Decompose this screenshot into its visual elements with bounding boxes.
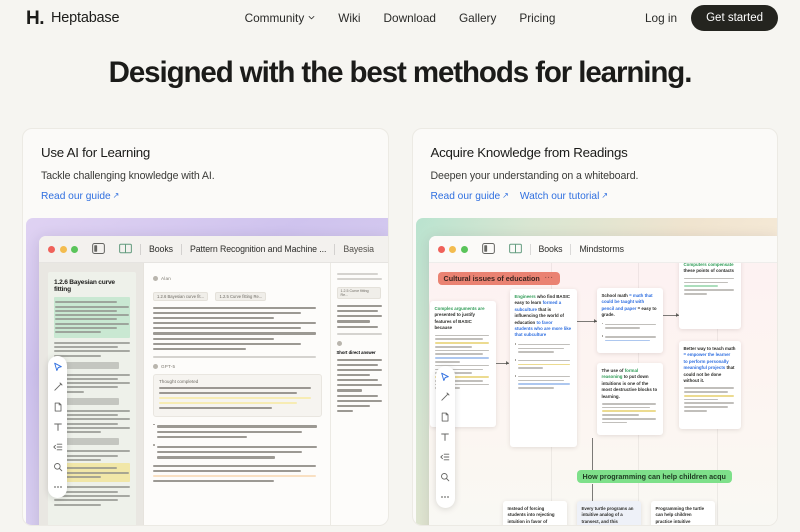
nav-link-community[interactable]: Community	[245, 11, 316, 25]
answer-heading: Short direct answer	[337, 350, 384, 356]
nav-link-community-label: Community	[245, 11, 305, 25]
assistant-name: GPT-5	[161, 364, 175, 369]
divider	[334, 244, 335, 255]
pdf-equation	[65, 362, 120, 369]
close-icon[interactable]	[48, 246, 55, 253]
card-subtitle: Deepen your understanding on a whiteboar…	[431, 170, 760, 182]
cursor-icon[interactable]	[53, 362, 63, 372]
list-item	[515, 342, 572, 355]
minimize-icon[interactable]	[60, 246, 67, 253]
note-title: Instead of forcing students into rejecti…	[508, 506, 562, 526]
note-title: The use of formal reasoning to put down …	[602, 368, 658, 400]
arrow-head-icon	[506, 361, 509, 365]
note-card[interactable]: Engineers who find BASIC easy to learn f…	[510, 289, 577, 447]
note-card[interactable]: Better way to teach math = empower the l…	[679, 341, 741, 429]
divider	[181, 244, 182, 255]
user-message-body	[153, 307, 322, 350]
outline-icon[interactable]	[440, 452, 450, 462]
close-icon[interactable]	[438, 246, 445, 253]
context-chip[interactable]: 1.2.6 Bayesian curve fit...	[153, 292, 208, 301]
message-header-assistant	[337, 341, 384, 346]
more-icon[interactable]	[53, 482, 63, 492]
sidebar-toggle-icon[interactable]	[92, 243, 105, 255]
divider	[570, 244, 571, 255]
context-chip[interactable]: 1.2.5 Curve fitting Re...	[337, 287, 381, 299]
page-title: Designed with the best methods for learn…	[0, 56, 800, 90]
tool-rail[interactable]	[48, 356, 67, 498]
thought-label: Thought completed	[159, 379, 316, 384]
avatar	[153, 276, 158, 281]
traffic-lights[interactable]	[438, 246, 468, 253]
text-icon[interactable]	[53, 422, 63, 432]
search-icon[interactable]	[53, 462, 63, 472]
whiteboard-canvas[interactable]: Cultural issues of education ··· Complex…	[429, 263, 778, 526]
note-title: Engineers who find BASIC easy to learn f…	[515, 294, 572, 339]
sidebar-toggle-icon[interactable]	[482, 243, 495, 255]
outline-icon[interactable]	[53, 442, 63, 452]
note-card[interactable]: Computers compensate these points of con…	[679, 263, 741, 329]
screenshot-ai-reader: Books Pattern Recognition and Machine ..…	[26, 218, 388, 526]
card-links: Read our guide ↗ Watch our tutorial ↗	[431, 191, 760, 202]
nav-link-download[interactable]: Download	[384, 11, 436, 25]
avatar	[337, 341, 342, 346]
note-title: Complex arguments are presented to justi…	[435, 306, 491, 332]
card-title: Acquire Knowledge from Readings	[431, 145, 760, 160]
section-tag-cultural-issues[interactable]: Cultural issues of education ···	[438, 272, 560, 285]
note-title: Computers compensate these points of con…	[684, 263, 736, 275]
list-item	[153, 422, 322, 440]
tab-mindstorms[interactable]: Mindstorms	[579, 244, 623, 254]
tab-books[interactable]: Books	[539, 244, 563, 254]
note-icon[interactable]	[53, 402, 63, 412]
app-window-whiteboard: Books Mindstorms Cultural issues of educ…	[429, 236, 778, 526]
cursor-icon[interactable]	[440, 372, 450, 382]
feature-card-whiteboard: Acquire Knowledge from Readings Deepen y…	[412, 128, 779, 526]
get-started-button[interactable]: Get started	[691, 5, 778, 31]
tool-rail[interactable]	[436, 366, 455, 508]
top-navigation-bar: H. Heptabase Community Wiki Download Gal…	[0, 0, 800, 36]
read-our-guide-link[interactable]: Read our guide ↗	[41, 191, 119, 202]
nav-link-wiki[interactable]: Wiki	[338, 11, 360, 25]
screenshot-whiteboard: Books Mindstorms Cultural issues of educ…	[416, 218, 778, 526]
tab-bayesian[interactable]: Bayesia	[343, 244, 374, 254]
more-icon[interactable]: ···	[545, 275, 554, 282]
pdf-equation	[65, 438, 120, 445]
card-header: Acquire Knowledge from Readings Deepen y…	[413, 145, 778, 202]
message-header-assistant: GPT-5	[153, 364, 322, 369]
note-card[interactable]: Instead of forcing students into rejecti…	[503, 501, 567, 526]
login-link[interactable]: Log in	[645, 11, 677, 25]
pdf-highlight-green[interactable]	[54, 297, 130, 338]
list-item	[515, 374, 572, 391]
traffic-lights[interactable]	[48, 246, 78, 253]
read-our-guide-label: Read our guide	[431, 191, 501, 202]
arrow-head-icon	[676, 313, 679, 317]
ai-chat-pane-secondary[interactable]: 1.2.5 Curve fitting Re... Short direct a…	[330, 263, 388, 526]
minimize-icon[interactable]	[449, 246, 456, 253]
pdf-section-heading: 1.2.6 Bayesian curve fitting	[54, 279, 130, 293]
read-our-guide-label: Read our guide	[41, 191, 111, 202]
external-link-icon: ↗	[502, 191, 509, 200]
window-titlebar: Books Mindstorms	[429, 236, 778, 263]
book-view-icon[interactable]	[509, 243, 522, 255]
tab-pattern-recognition[interactable]: Pattern Recognition and Machine ...	[190, 244, 326, 254]
maximize-icon[interactable]	[461, 246, 468, 253]
section-tag-label: How programming can help children acqu	[583, 472, 726, 481]
section-tag-programming-children[interactable]: How programming can help children acqu	[577, 470, 732, 483]
nav-actions: Log in Get started	[645, 5, 778, 31]
window-titlebar: Books Pattern Recognition and Machine ..…	[39, 236, 388, 263]
pen-icon[interactable]	[440, 392, 450, 402]
thought-block[interactable]: Thought completed	[153, 374, 322, 417]
feature-cards: Use AI for Learning Tackle challenging k…	[0, 128, 800, 526]
brand-name: Heptabase	[51, 10, 119, 26]
section-tag-label: Cultural issues of education	[444, 274, 540, 283]
book-view-icon[interactable]	[119, 243, 132, 255]
pdf-equation	[65, 398, 120, 405]
divider	[140, 244, 141, 255]
list-item	[153, 443, 322, 461]
search-icon[interactable]	[440, 472, 450, 482]
watch-our-tutorial-link[interactable]: Watch our tutorial ↗	[520, 191, 608, 202]
note-card[interactable]: Every turtle programs an intuitive analo…	[577, 501, 641, 526]
note-title: Programming the turtle can help children…	[656, 506, 710, 526]
note-title: School math = math that could be taught …	[602, 293, 658, 319]
note-card[interactable]: The use of formal reasoning to put down …	[597, 363, 663, 435]
nav-link-gallery[interactable]: Gallery	[459, 11, 496, 25]
avatar	[153, 364, 158, 369]
context-chip[interactable]: 1.2.5 Curve fitting Re...	[215, 292, 266, 301]
note-icon[interactable]	[440, 412, 450, 422]
watch-our-tutorial-label: Watch our tutorial	[520, 191, 599, 202]
feature-card-ai-learning: Use AI for Learning Tackle challenging k…	[22, 128, 389, 526]
read-our-guide-link[interactable]: Read our guide ↗	[431, 191, 509, 202]
external-link-icon: ↗	[113, 191, 120, 200]
note-title: Better way to teach math = empower the l…	[684, 346, 736, 384]
user-name: Alan	[161, 276, 171, 281]
list-item	[602, 334, 658, 344]
heptabase-logo-icon: H.	[26, 9, 44, 28]
nav-link-pricing[interactable]: Pricing	[519, 11, 555, 25]
brand-logo[interactable]: H. Heptabase	[26, 9, 119, 28]
ai-chat-pane[interactable]: Alan 1.2.6 Bayesian curve fit... 1.2.5 C…	[143, 263, 330, 526]
card-links: Read our guide ↗	[41, 191, 370, 202]
note-card[interactable]: School math = math that could be taught …	[597, 288, 663, 353]
arrow-head-icon	[594, 319, 597, 323]
card-subtitle: Tackle challenging knowledge with AI.	[41, 170, 370, 182]
context-chips: 1.2.6 Bayesian curve fit... 1.2.5 Curve …	[153, 285, 322, 303]
assistant-message-body	[153, 422, 322, 482]
list-item	[602, 322, 658, 332]
pen-icon[interactable]	[53, 382, 63, 392]
app-window-reader: Books Pattern Recognition and Machine ..…	[39, 236, 388, 526]
maximize-icon[interactable]	[71, 246, 78, 253]
tab-books[interactable]: Books	[149, 244, 173, 254]
list-item	[515, 358, 572, 371]
divider	[530, 244, 531, 255]
card-header: Use AI for Learning Tackle challenging k…	[23, 145, 388, 202]
text-icon[interactable]	[440, 432, 450, 442]
note-title: Every turtle programs an intuitive analo…	[582, 506, 636, 526]
chevron-down-icon	[308, 14, 315, 21]
hero-section: Designed with the best methods for learn…	[0, 36, 800, 90]
connector-line	[592, 438, 593, 470]
reader-body: 1.2.6 Bayesian curve fitting	[39, 263, 388, 526]
card-title: Use AI for Learning	[41, 145, 370, 160]
connector-line	[592, 484, 593, 502]
external-link-icon: ↗	[601, 191, 608, 200]
message-header-user: Alan	[153, 276, 322, 281]
note-card[interactable]: Programming the turtle can help children…	[651, 501, 715, 526]
more-icon[interactable]	[440, 492, 450, 502]
